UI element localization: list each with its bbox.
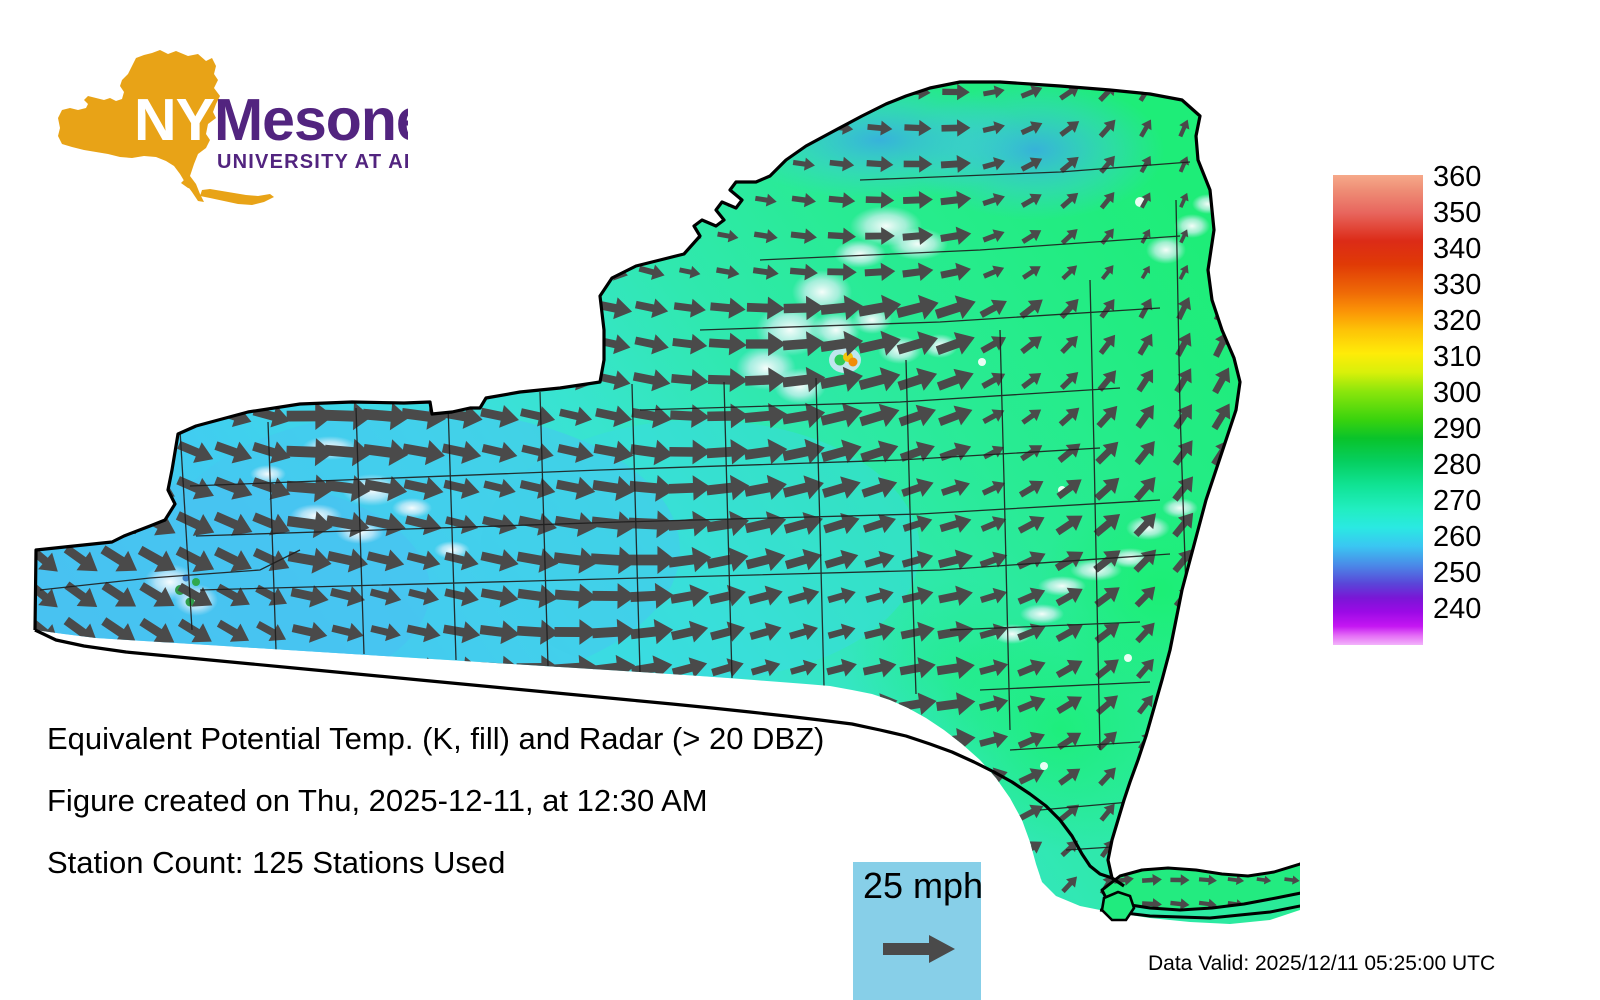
figure-created-caption: Figure created on Thu, 2025-12-11, at 12… — [47, 784, 708, 818]
colorbar-tick-330: 330 — [1433, 271, 1481, 300]
colorbar-tick-240: 240 — [1433, 595, 1481, 624]
colorbar-tick-350: 350 — [1433, 199, 1481, 228]
colorbar-tick-270: 270 — [1433, 487, 1481, 516]
colorbar-tick-320: 320 — [1433, 307, 1481, 336]
colorbar-tick-250: 250 — [1433, 559, 1481, 588]
wind-scale-legend: 25 mph — [853, 862, 981, 1000]
colorbar: 360 350 340 330 320 310 300 290 280 270 … — [1333, 175, 1583, 665]
colorbar-tick-280: 280 — [1433, 451, 1481, 480]
colorbar-tick-300: 300 — [1433, 379, 1481, 408]
colorbar-gradient — [1333, 175, 1423, 645]
station-count-caption: Station Count: 125 Stations Used — [47, 846, 505, 880]
data-valid-timestamp: Data Valid: 2025/12/11 05:25:00 UTC — [1148, 952, 1495, 976]
map-title-caption: Equivalent Potential Temp. (K, fill) and… — [47, 722, 824, 756]
colorbar-tick-310: 310 — [1433, 343, 1481, 372]
colorbar-tick-360: 360 — [1433, 163, 1481, 192]
colorbar-tick-260: 260 — [1433, 523, 1481, 552]
staten-island — [1102, 892, 1134, 920]
wind-scale-label: 25 mph — [863, 866, 983, 906]
colorbar-tick-340: 340 — [1433, 235, 1481, 264]
wind-reference-arrow-icon — [881, 932, 957, 966]
colorbar-tick-290: 290 — [1433, 415, 1481, 444]
